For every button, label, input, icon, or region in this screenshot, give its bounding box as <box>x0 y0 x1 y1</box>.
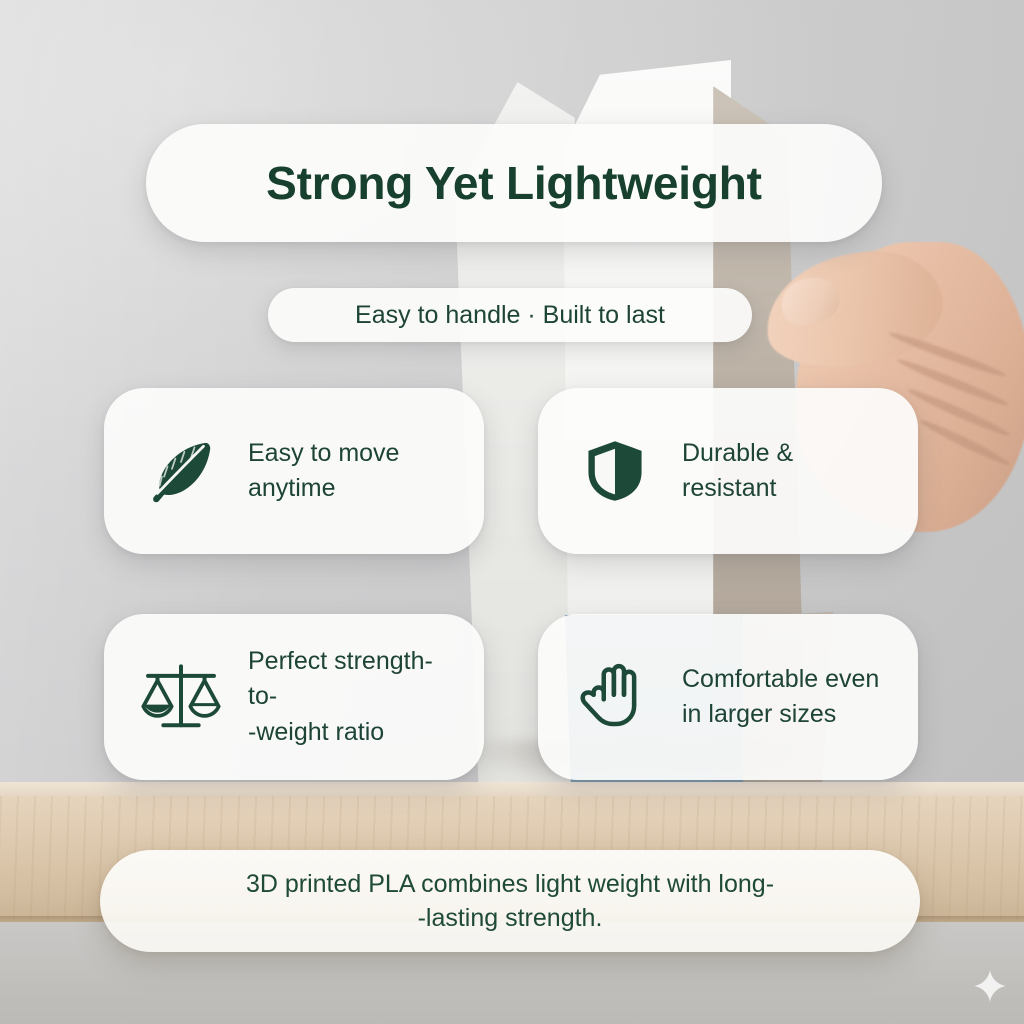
feature-line-1: Easy to move <box>248 439 399 467</box>
sparkle-icon <box>972 968 1008 1004</box>
feature-line-2: anytime <box>248 474 336 502</box>
feature-card-easy-to-move[interactable]: Easy to move anytime <box>104 388 484 554</box>
page-title: Strong Yet Lightweight <box>266 156 762 210</box>
page-subtitle: Easy to handle · Built to last <box>355 301 665 330</box>
feature-line-1: Perfect strength-to- <box>248 647 433 711</box>
feather-icon <box>138 428 224 514</box>
subtitle-pill: Easy to handle · Built to last <box>268 288 752 342</box>
feature-line-2: resistant <box>682 474 776 502</box>
footer-pill: 3D printed PLA combines light weight wit… <box>100 850 920 952</box>
feature-label: Comfortable even in larger sizes <box>682 662 879 733</box>
shield-icon <box>572 428 658 514</box>
footer-line-1: 3D printed PLA combines light weight wit… <box>246 870 774 898</box>
feature-line-2: -weight ratio <box>248 718 384 746</box>
open-hand-icon <box>572 654 658 740</box>
feature-line-1: Durable & <box>682 439 793 467</box>
feature-label: Perfect strength-to- -weight ratio <box>248 644 458 751</box>
title-pill: Strong Yet Lightweight <box>146 124 882 242</box>
feature-label: Easy to move anytime <box>248 436 399 507</box>
feature-card-comfortable[interactable]: Comfortable even in larger sizes <box>538 614 918 780</box>
feature-card-durable[interactable]: Durable & resistant <box>538 388 918 554</box>
feature-card-strength-to-weight[interactable]: Perfect strength-to- -weight ratio <box>104 614 484 780</box>
footer-line-2: -lasting strength. <box>418 904 603 932</box>
promo-graphic: Strong Yet Lightweight Easy to handle · … <box>0 0 1024 1024</box>
feature-line-1: Comfortable even <box>682 665 879 693</box>
feature-line-2: in larger sizes <box>682 700 836 728</box>
feature-label: Durable & resistant <box>682 436 793 507</box>
balance-scale-icon <box>138 654 224 740</box>
footer-text: 3D printed PLA combines light weight wit… <box>246 867 774 935</box>
